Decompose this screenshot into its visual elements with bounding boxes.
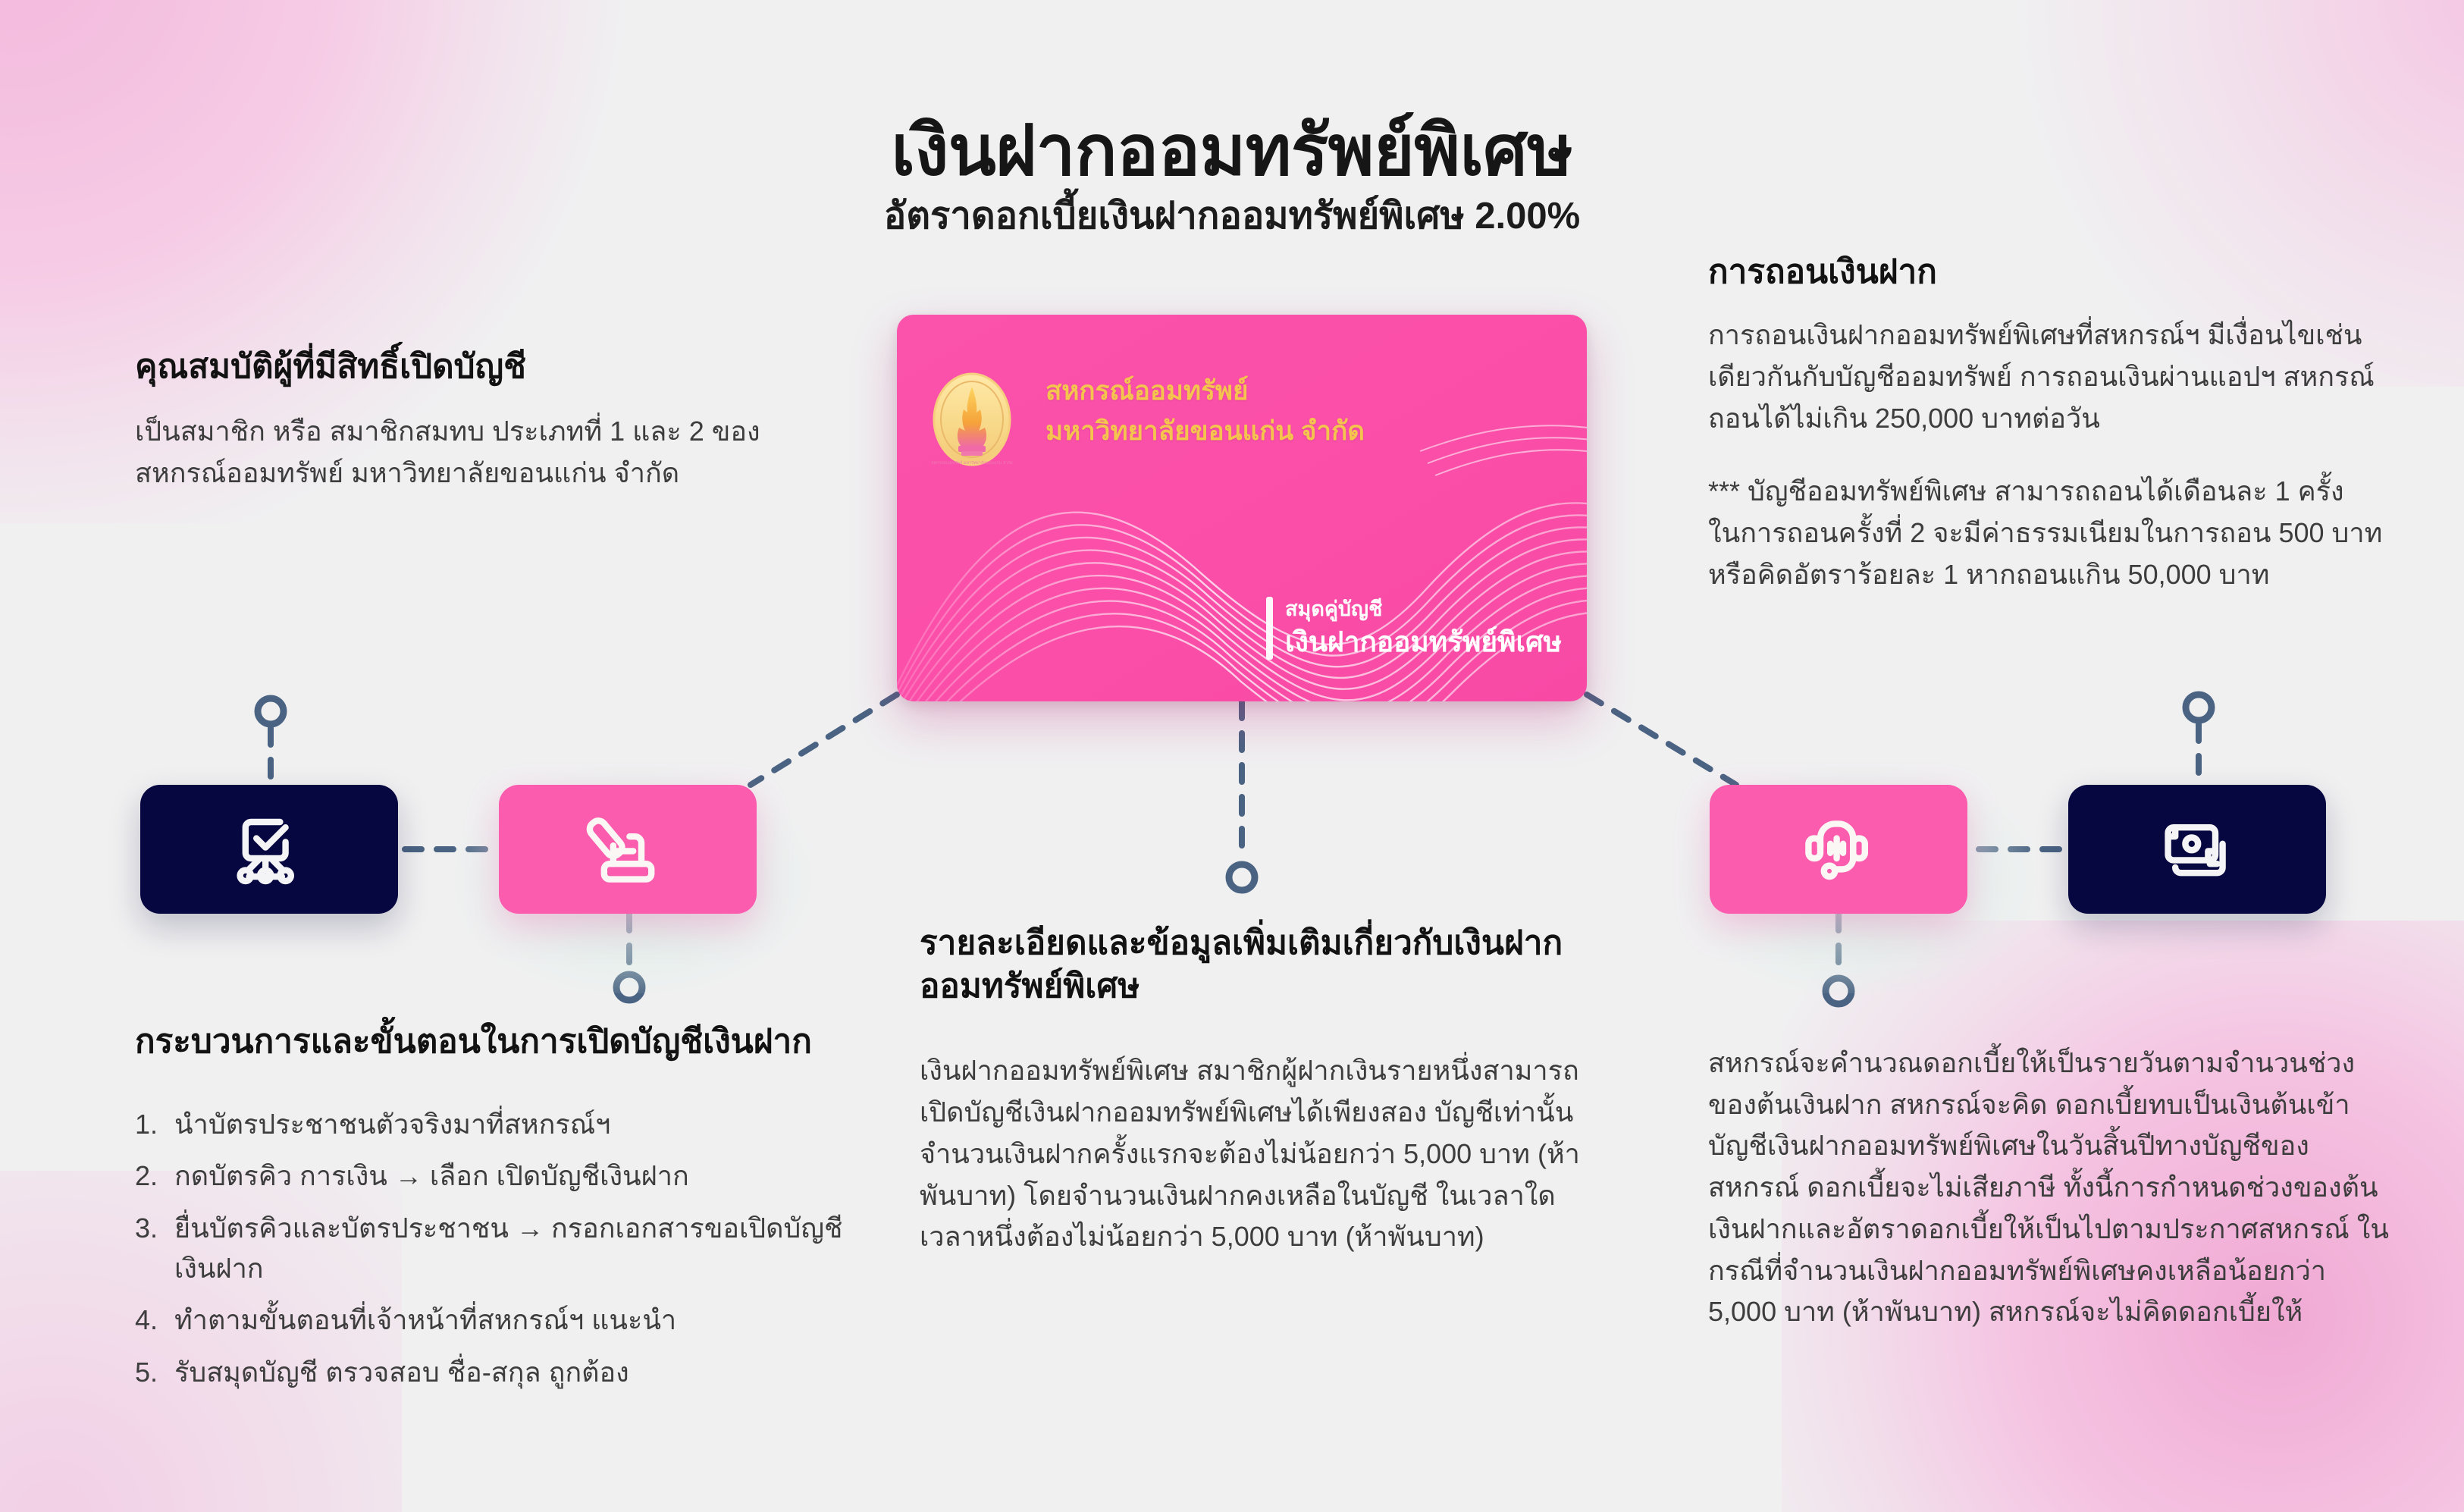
section-qualifications: คุณสมบัติผู้ที่มีสิทธิ์เปิดบัญชี เป็นสมา… bbox=[135, 345, 817, 494]
passbook-org-line1: สหกรณ์ออมทรัพย์ bbox=[1045, 372, 1365, 412]
section-details: รายละเอียดและข้อมูลเพิ่มเติมเกี่ยวกับเงิ… bbox=[920, 921, 1587, 1258]
passbook-footer-big: เงินฝากออมทรัพย์พิเศษ bbox=[1285, 625, 1562, 660]
list-item: กดบัตรคิว การเงิน → เลือก เปิดบัญชีเงินฝ… bbox=[135, 1156, 848, 1196]
list-item: นำบัตรประชาชนตัวจริงมาที่สหกรณ์ฯ bbox=[135, 1104, 848, 1144]
passbook-footer-small: สมุดคู่บัญชี bbox=[1285, 597, 1562, 621]
details-body: เงินฝากออมทรัพย์พิเศษ สมาชิกผู้ฝากเงินรา… bbox=[920, 1050, 1587, 1258]
qualifications-heading: คุณสมบัติผู้ที่มีสิทธิ์เปิดบัญชี bbox=[135, 345, 817, 388]
process-step-list: นำบัตรประชาชนตัวจริงมาที่สหกรณ์ฯ กดบัตรค… bbox=[135, 1104, 848, 1392]
passbook-org-name: สหกรณ์ออมทรัพย์ มหาวิทยาลัยขอนแก่น จำกัด bbox=[1045, 372, 1365, 451]
withdrawal-body: การถอนเงินฝากออมทรัพย์พิเศษที่สหกรณ์ฯ มี… bbox=[1708, 315, 2383, 439]
section-interest: สหกรณ์จะคำนวณดอกเบี้ยให้เป็นรายวันตามจำน… bbox=[1708, 1043, 2390, 1333]
withdrawal-heading: การถอนเงินฝาก bbox=[1708, 250, 2383, 293]
section-process: กระบวนการและขั้นตอนในการเปิดบัญชีเงินฝาก… bbox=[135, 1020, 848, 1404]
page-subtitle: อัตราดอกเบี้ยเงินฝากออมทรัพย์พิเศษ 2.00% bbox=[0, 195, 2464, 237]
cooperative-seal-icon: สหกรณ์ออมทรัพย์ มหาวิทยาลัยขอนแก่น จำกัด bbox=[930, 370, 1014, 469]
checkbox-network-icon bbox=[224, 804, 315, 895]
list-item: รับสมุดบัญชี ตรวจสอบ ชื่อ-สกุล ถูกต้อง bbox=[135, 1352, 848, 1392]
details-heading: รายละเอียดและข้อมูลเพิ่มเติมเกี่ยวกับเงิ… bbox=[920, 921, 1587, 1008]
tile-interest-cash[interactable] bbox=[2068, 785, 2326, 914]
passbook-card: สหกรณ์ออมทรัพย์ มหาวิทยาลัยขอนแก่น จำกัด… bbox=[897, 315, 1587, 701]
process-heading: กระบวนการและขั้นตอนในการเปิดบัญชีเงินฝาก bbox=[135, 1020, 848, 1063]
svg-text:สหกรณ์ออมทรัพย์ มหาวิทยาลัยขอน: สหกรณ์ออมทรัพย์ มหาวิทยาลัยขอนแก่น จำกัด bbox=[931, 460, 1013, 466]
list-item: ยื่นบัตรคิวและบัตรประชาชน → กรอกเอกสารขอ… bbox=[135, 1208, 848, 1289]
banknotes-icon bbox=[2152, 804, 2243, 895]
rubber-stamp-icon bbox=[582, 804, 673, 895]
passbook-org-line2: มหาวิทยาลัยขอนแก่น จำกัด bbox=[1045, 412, 1365, 452]
section-withdrawal: การถอนเงินฝาก การถอนเงินฝากออมทรัพย์พิเศ… bbox=[1708, 250, 2383, 596]
interest-body: สหกรณ์จะคำนวณดอกเบี้ยให้เป็นรายวันตามจำน… bbox=[1708, 1043, 2390, 1333]
page-title: เงินฝากออมทรัพย์พิเศษ bbox=[0, 114, 2464, 189]
list-item: ทำตามขั้นตอนที่เจ้าหน้าที่สหกรณ์ฯ แนะนำ bbox=[135, 1300, 848, 1340]
tile-open-account-process[interactable] bbox=[499, 785, 757, 914]
page-title-group: เงินฝากออมทรัพย์พิเศษ อัตราดอกเบี้ยเงินฝ… bbox=[0, 114, 2464, 238]
tile-eligibility[interactable] bbox=[140, 785, 398, 914]
passbook-accent-bar bbox=[1266, 597, 1273, 660]
qualifications-body: เป็นสมาชิก หรือ สมาชิกสมทบ ประเภทที่ 1 แ… bbox=[135, 411, 817, 494]
passbook-footer: สมุดคู่บัญชี เงินฝากออมทรัพย์พิเศษ bbox=[1266, 597, 1562, 660]
headset-support-icon bbox=[1793, 804, 1884, 895]
withdrawal-note: *** บัญชีออมทรัพย์พิเศษ สามารถถอนได้เดือ… bbox=[1708, 471, 2383, 595]
infographic-canvas: เงินฝากออมทรัพย์พิเศษ อัตราดอกเบี้ยเงินฝ… bbox=[0, 0, 2464, 1512]
tile-withdrawal-support[interactable] bbox=[1710, 785, 1967, 914]
